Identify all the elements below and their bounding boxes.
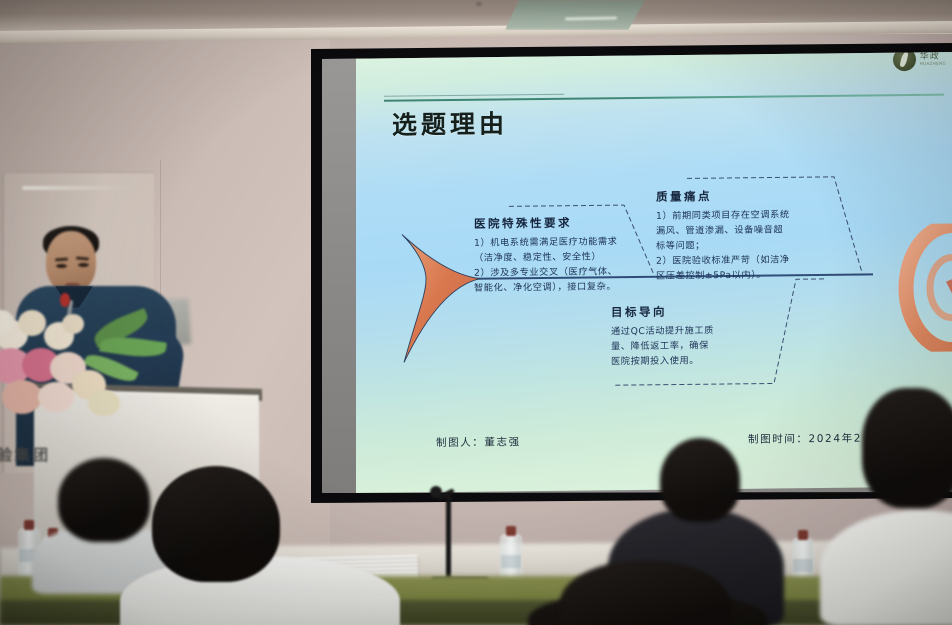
podium-microphone-head	[60, 293, 70, 307]
logo-text: 华政 HUAZHENG	[920, 52, 946, 66]
company-logo: 华政 HUAZHENG	[893, 52, 946, 71]
fishbone-group-goal: 目标导向 通过QC活动提升施工质 量、降低返工率，确保 医院按期投入使用。	[611, 302, 786, 370]
header-rule-secondary	[384, 94, 564, 97]
leaf-circle-icon	[893, 52, 916, 71]
group-title-hospital: 医院特殊性要求	[474, 214, 644, 232]
slide-footer-date: 制图时间：2024年2	[748, 431, 862, 447]
audience-member-head	[152, 466, 280, 582]
podium-label: 验集团	[0, 444, 51, 465]
screenshot-root: 华政 HUAZHENG 选题理由	[0, 0, 952, 625]
flower-arrangement	[0, 308, 173, 428]
logo-subtitle: HUAZHENG	[920, 62, 946, 66]
table-microphone-stem	[446, 494, 451, 580]
group-title-pain: 质量痛点	[656, 187, 836, 205]
screen-unlit-margin	[322, 52, 356, 493]
ceiling-ac-panel	[505, 0, 645, 30]
slide-footer-author: 制图人：董志强	[436, 434, 521, 450]
group-body-hospital: 1）机电系统需满足医疗功能需求 （洁净度、稳定性、安全性） 2）涉及多专业交叉（…	[474, 235, 644, 296]
audience-member-head	[660, 438, 740, 522]
group-body-pain: 1）前期同类项目存在空调系统 漏风、管道渗漏、设备噪音超 标等问题； 2）医院验…	[656, 208, 836, 284]
audience-member-head	[58, 458, 150, 542]
projector-screen: 华政 HUAZHENG 选题理由	[322, 52, 952, 493]
group-title-goal: 目标导向	[611, 302, 786, 320]
door-handle	[22, 186, 137, 190]
fishbone-tail-icon	[400, 232, 482, 365]
fishbone-group-pain: 质量痛点 1）前期同类项目存在空调系统 漏风、管道渗漏、设备噪音超 标等问题； …	[656, 187, 836, 284]
group-body-goal: 通过QC活动提升施工质 量、降低返工率，确保 医院按期投入使用。	[611, 323, 786, 370]
speaker-eye-right	[78, 263, 89, 267]
table-microphone-capsule	[430, 486, 442, 498]
audience-member-head	[862, 388, 952, 508]
fishbone-group-hospital: 医院特殊性要求 1）机电系统需满足医疗功能需求 （洁净度、稳定性、安全性） 2）…	[474, 214, 644, 296]
slide-title: 选题理由	[392, 104, 508, 141]
speaker-eye-left	[56, 264, 67, 268]
ceiling-fixture-dot	[476, 2, 482, 6]
fishbone-head-icon	[896, 223, 952, 352]
